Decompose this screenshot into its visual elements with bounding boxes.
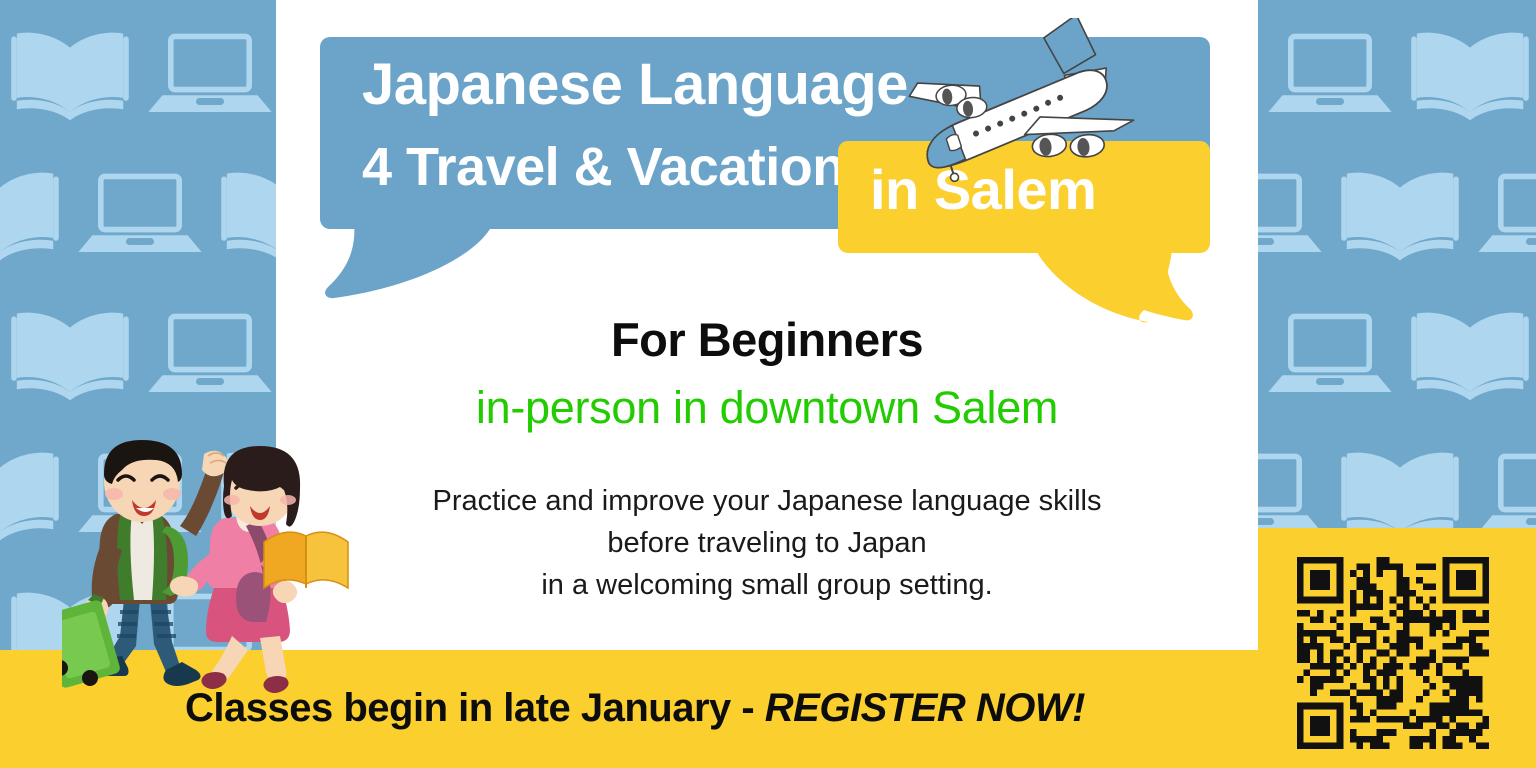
blue-bubble-line-2: 4 Travel & Vacation (362, 136, 845, 198)
pattern-laptop-icon (70, 140, 210, 280)
banner-emphasis: REGISTER NOW! (765, 686, 1085, 730)
body-line-1: Practice and improve your Japanese langu… (276, 480, 1258, 522)
banner-lead: Classes begin in late January - (185, 686, 765, 730)
pattern-laptop-icon (1260, 280, 1400, 420)
pattern-laptop-icon (140, 280, 280, 420)
body-line-2: before traveling to Japan (276, 522, 1258, 564)
body-line-3: in a welcoming small group setting. (276, 564, 1258, 606)
flyer-canvas: Japanese Language 4 Travel & Vacation in… (0, 0, 1536, 768)
registration-banner-text: Classes begin in late January - REGISTER… (0, 686, 1270, 731)
pattern-book-icon (0, 280, 140, 420)
pattern-book-icon (1400, 0, 1536, 140)
pattern-laptop-icon (1470, 140, 1536, 280)
airplane-icon (898, 18, 1148, 208)
page-title: For Beginners (276, 312, 1258, 367)
blue-bubble-tail-icon (322, 223, 492, 301)
pattern-book-icon (1400, 280, 1536, 420)
subtitle-location: in-person in downtown Salem (276, 382, 1258, 434)
body-copy: Practice and improve your Japanese langu… (276, 480, 1258, 606)
pattern-book-icon (1330, 140, 1470, 280)
pattern-book-icon (0, 0, 140, 140)
qr-code-icon[interactable] (1297, 557, 1489, 749)
pattern-laptop-icon (140, 0, 280, 140)
blue-bubble-line-1: Japanese Language (362, 51, 908, 118)
pattern-laptop-icon (1260, 0, 1400, 140)
travelers-illustration (62, 430, 352, 700)
pattern-book-icon (0, 140, 70, 280)
